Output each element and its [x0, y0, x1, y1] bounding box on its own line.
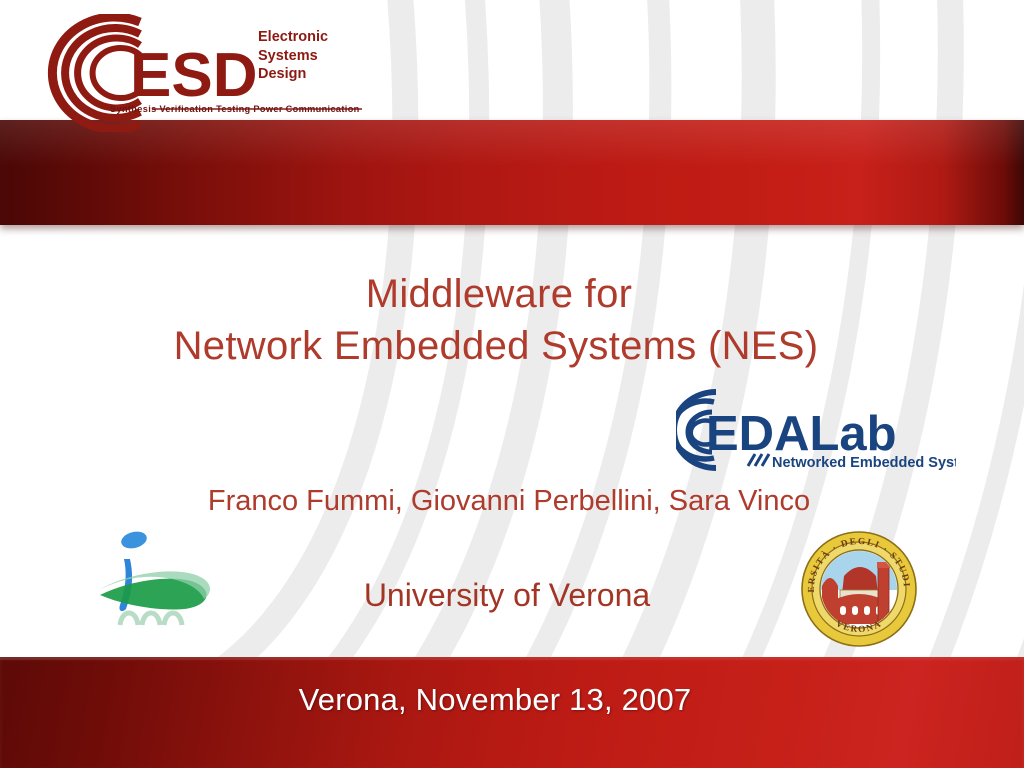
footer-date-text: Verona, November 13, 2007 — [299, 682, 692, 718]
edalab-logo: EDALab Networked Embedded Systems — [676, 388, 956, 473]
author-list: Franco Fummi, Giovanni Perbellini, Sara … — [0, 485, 1021, 518]
esd-acronym-text: ESD — [130, 41, 257, 110]
top-red-band — [0, 120, 1024, 225]
footer-date: Verona, November 13, 2007 — [0, 682, 1024, 718]
presentation-slide: ESD Electronic Systems Design Synthesis … — [0, 0, 1024, 768]
band-top-edge — [0, 657, 1024, 660]
edalab-tagline: Networked Embedded Systems — [772, 455, 956, 471]
title-line-1: Middleware for — [0, 268, 1011, 320]
id-logo — [72, 523, 224, 628]
esd-subtitle-tagline: Synthesis Verification Testing Power Com… — [110, 104, 360, 114]
edalab-wordmark: EDALab — [706, 407, 897, 461]
page-title: Middleware for Network Embedded Systems … — [0, 268, 1024, 372]
esd-line3: Design — [258, 65, 328, 84]
verona-seal-logo: UNIVERSITÀ · DEGLI · STUDI · DI · VERONA — [800, 530, 918, 648]
esd-tagline-words: Electronic Systems Design — [258, 28, 328, 84]
esd-line2: Systems — [258, 47, 328, 66]
title-line-2: Network Embedded Systems (NES) — [0, 320, 1008, 372]
esd-line1: Electronic — [258, 28, 328, 47]
